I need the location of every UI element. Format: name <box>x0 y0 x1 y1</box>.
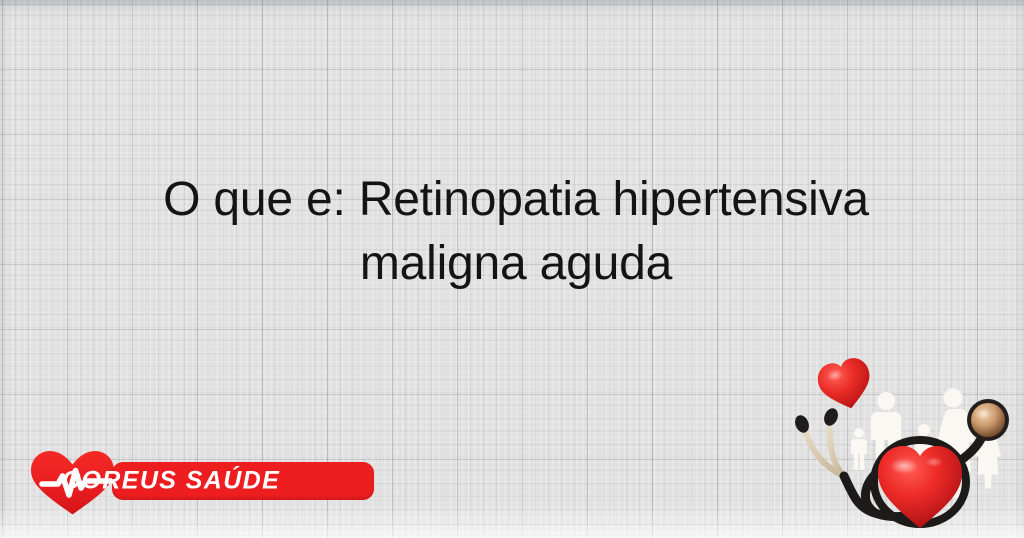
small-red-heart-icon <box>814 355 876 415</box>
stethoscope-chestpiece-icon <box>967 399 1009 441</box>
slide-canvas: O que e: Retinopatia hipertensiva malign… <box>0 0 1024 538</box>
health-collage-illustration <box>768 344 1024 538</box>
brand-logo: COREUS SAÚDE <box>28 446 358 516</box>
slide-headline: O que e: Retinopatia hipertensiva malign… <box>60 168 972 296</box>
brand-name-label: COREUS SAÚDE <box>28 469 358 494</box>
